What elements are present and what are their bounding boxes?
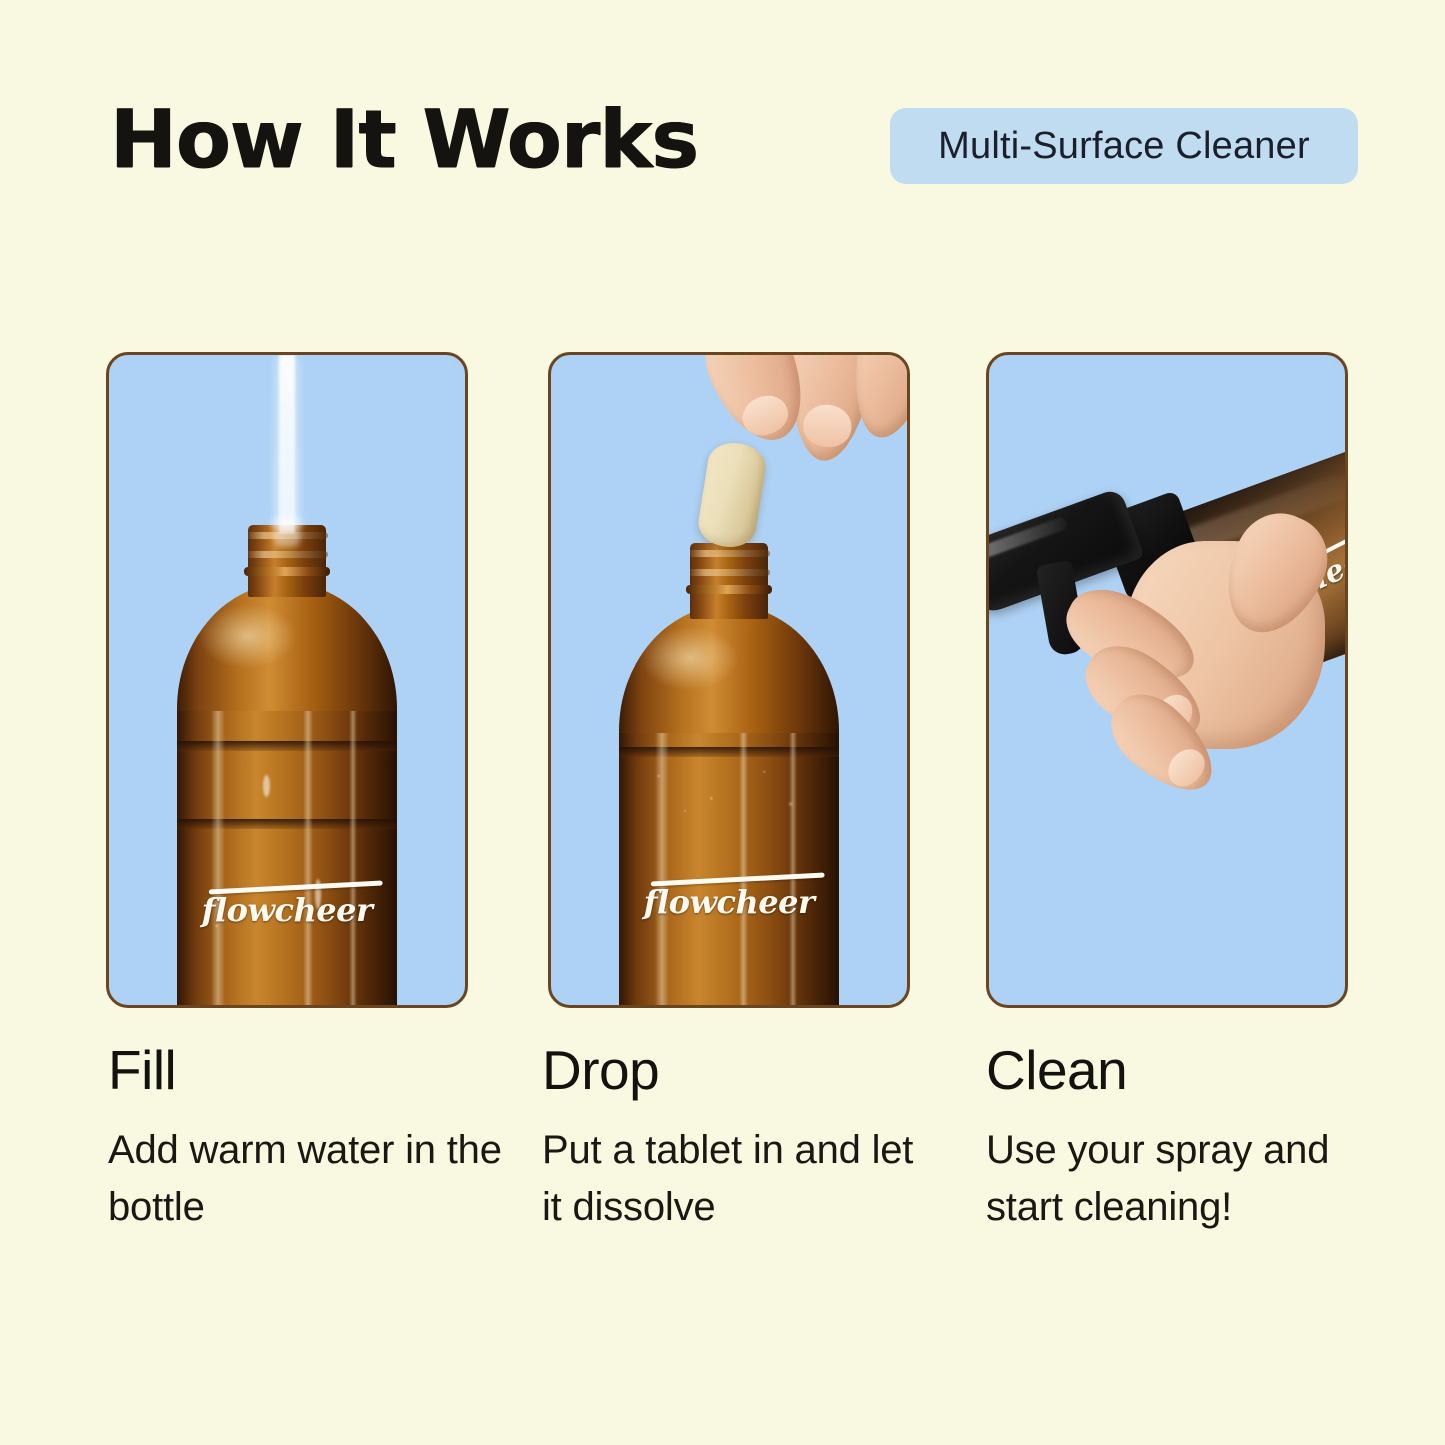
step-panel-fill: flowcheer: [106, 352, 468, 1008]
hand-holding-spray-bottle: [1017, 535, 1347, 805]
bottle-body: [619, 733, 839, 1008]
step-description: Put a tablet in and let it dissolve: [542, 1122, 942, 1236]
caption-clean: Clean Use your spray and start cleaning!: [986, 1042, 1386, 1235]
caption-drop: Drop Put a tablet in and let it dissolve: [542, 1042, 942, 1235]
glass-highlight: [303, 711, 313, 1008]
brand-logo: flowcheer: [202, 891, 373, 929]
step-description: Add warm water in the bottle: [108, 1122, 508, 1236]
caption-fill: Fill Add warm water in the bottle: [108, 1042, 508, 1235]
thumbnail: [737, 389, 794, 441]
step-title: Fill: [108, 1042, 508, 1100]
step-panel-drop: flowcheer: [548, 352, 910, 1008]
water-turbulence: [177, 851, 397, 1008]
fingernail: [801, 402, 853, 449]
bottle-body: [177, 711, 397, 1008]
scene-clean: flowcheer: [989, 355, 1345, 1005]
glass-highlight: [789, 733, 797, 1008]
water-level-line: [619, 747, 839, 757]
step-title: Drop: [542, 1042, 942, 1100]
glass-highlight: [739, 733, 748, 1008]
glass-highlight: [349, 711, 357, 1008]
hand-holding-tablet: [659, 352, 910, 501]
infographic-page: How It Works Multi-Surface Cleaner: [0, 0, 1445, 1445]
bottle-shoulder: [177, 583, 397, 723]
brand-logo: flowcheer: [644, 883, 815, 921]
water-drip: [263, 775, 270, 797]
water-splash: [259, 505, 315, 535]
water-level-line: [177, 741, 397, 751]
bottle-neck: [690, 543, 768, 619]
water-level-line: [177, 819, 397, 829]
step-description: Use your spray and start cleaning!: [986, 1122, 1386, 1236]
water-turbulence: [619, 755, 839, 825]
bottle-neck-ring: [686, 585, 772, 594]
fingernail: [1161, 742, 1212, 793]
step-title: Clean: [986, 1042, 1386, 1100]
step-panel-clean: flowcheer: [986, 352, 1348, 1008]
scene-fill: flowcheer: [109, 355, 465, 1005]
bottle-neck-ring: [244, 567, 330, 576]
bottle-shoulder: [619, 605, 839, 745]
glass-highlight: [655, 733, 669, 1008]
scene-drop: flowcheer: [551, 355, 907, 1005]
glass-highlight: [211, 711, 225, 1008]
